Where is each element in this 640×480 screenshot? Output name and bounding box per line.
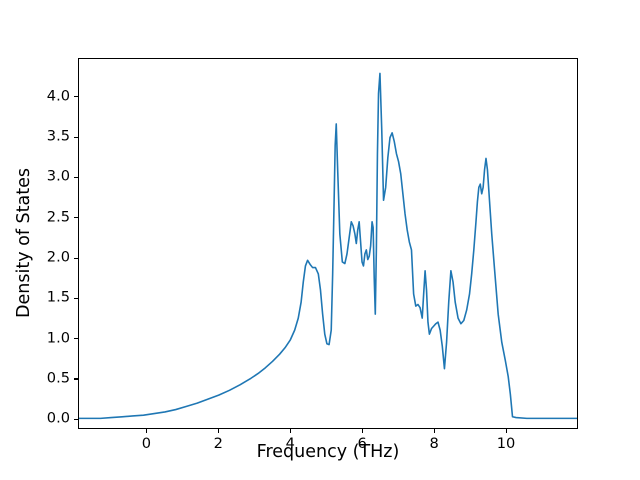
- y-axis-label: Density of States: [14, 168, 34, 318]
- x-tick-mark: [290, 429, 291, 433]
- y-tick-label: 3.5: [47, 130, 70, 145]
- x-tick-mark: [146, 429, 147, 433]
- x-axis-label: Frequency (THz): [257, 442, 400, 462]
- y-tick-label: 3.0: [47, 170, 70, 185]
- y-tick-mark: [74, 96, 78, 97]
- x-tick-label: 10: [497, 437, 516, 452]
- x-tick-mark: [362, 429, 363, 433]
- y-tick-mark: [74, 177, 78, 178]
- x-tick-label: 0: [142, 437, 151, 452]
- y-tick-mark: [74, 258, 78, 259]
- y-tick-mark: [74, 419, 78, 420]
- y-tick-mark: [74, 298, 78, 299]
- y-tick-label: 0.5: [47, 372, 70, 387]
- x-tick-mark: [434, 429, 435, 433]
- x-tick-mark: [218, 429, 219, 433]
- y-tick-mark: [74, 338, 78, 339]
- y-tick-mark: [74, 137, 78, 138]
- y-tick-label: 2.5: [47, 210, 70, 225]
- y-tick-label: 1.5: [47, 291, 70, 306]
- plot-area: [78, 58, 578, 429]
- y-tick-label: 2.0: [47, 251, 70, 266]
- y-tick-mark: [74, 378, 78, 379]
- x-tick-label: 8: [429, 437, 438, 452]
- y-tick-mark: [74, 217, 78, 218]
- y-tick-label: 0.0: [47, 412, 70, 427]
- y-tick-label: 1.0: [47, 331, 70, 346]
- dos-line-series: [79, 59, 577, 428]
- x-tick-label: 2: [214, 437, 223, 452]
- y-tick-label: 4.0: [47, 89, 70, 104]
- x-tick-mark: [506, 429, 507, 433]
- figure-canvas: 0246810 0.00.51.01.52.02.53.03.54.0 Freq…: [0, 0, 640, 480]
